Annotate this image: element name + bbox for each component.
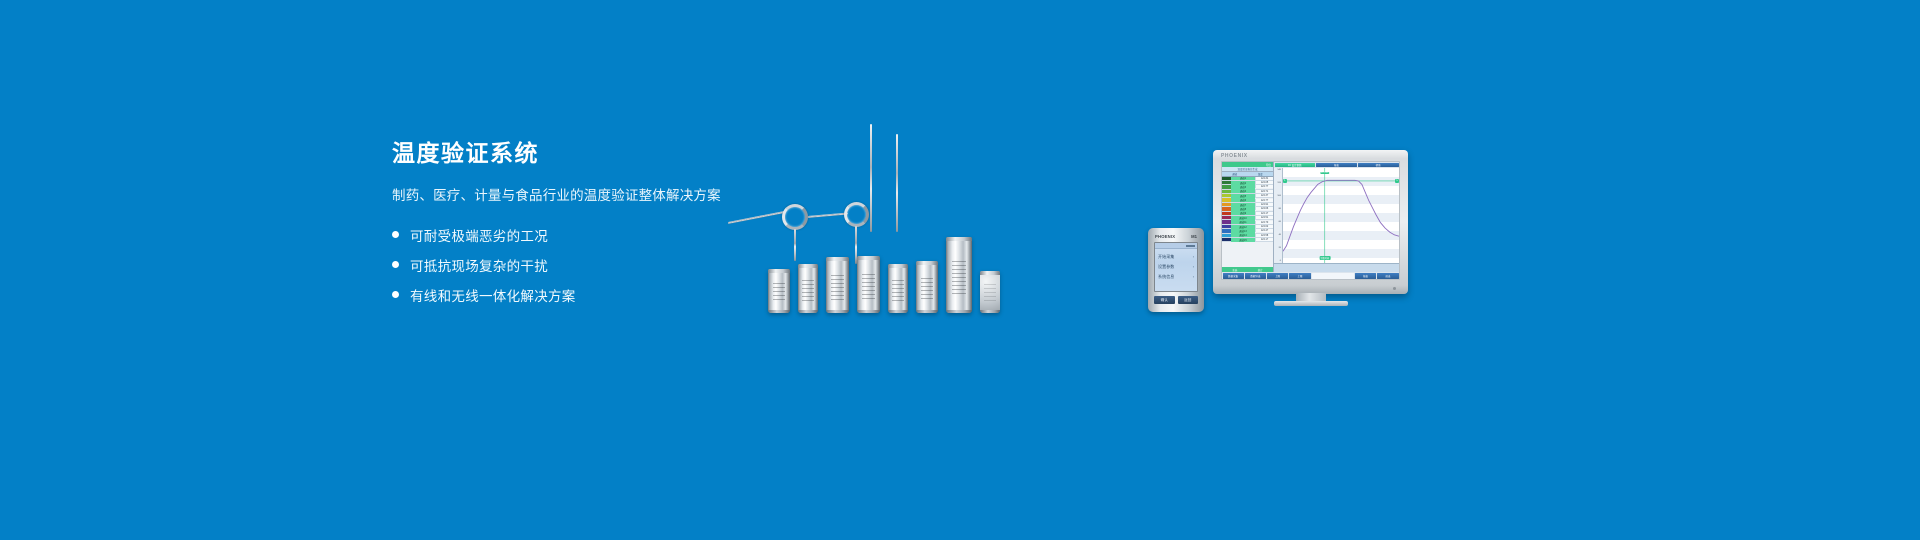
product-photo-group — [720, 120, 1220, 320]
data-logger-5 — [888, 264, 908, 313]
channel-value: 124.51 — [1255, 216, 1273, 219]
channel-name: 通道3 — [1231, 185, 1255, 189]
chart-line-series — [1283, 168, 1399, 264]
channel-color-swatch — [1222, 220, 1231, 223]
channel-color-swatch — [1222, 190, 1231, 193]
rigid-needle-probe-1 — [870, 124, 872, 232]
y-axis: 020406080100120140 — [1274, 168, 1283, 264]
handheld-menu-item[interactable]: 系统信息 › — [1155, 274, 1197, 279]
export-data-button[interactable]: 数据导出 — [1245, 273, 1266, 279]
tab-help[interactable]: 帮助 — [1358, 163, 1399, 168]
limit-handle-right[interactable]: L — [1395, 179, 1399, 183]
channel-panel: 导出 温度验证报告生成 通道 温度 通道1124.31通道2124.05通道31… — [1222, 162, 1274, 272]
bullet-label: 有线和无线一体化解决方案 — [410, 285, 576, 305]
data-logger-1 — [768, 269, 790, 313]
channel-value: 124.66 — [1255, 207, 1273, 210]
rigid-needle-probe-2 — [896, 134, 898, 232]
monitor-stand-base — [1274, 301, 1348, 306]
chart-panel: F0 设定参数 报表 帮助 020406080100120140 F0 4.51 — [1274, 162, 1399, 272]
channel-name: 通道11 — [1231, 220, 1255, 224]
channel-name: 通道15 — [1231, 238, 1255, 242]
data-logger-6 — [916, 261, 938, 313]
handheld-reader-device[interactable]: PHOENIX M1 开始采集 › 设置参数 › 系统信息 › 确认 返回 — [1148, 228, 1204, 312]
channel-color-swatch — [1222, 225, 1231, 228]
bullet-label: 可耐受极端恶劣的工况 — [410, 225, 548, 245]
validation-software-window: 导出 温度验证报告生成 通道 温度 通道1124.31通道2124.05通道31… — [1222, 162, 1399, 279]
tab-f0-settings[interactable]: F0 设定参数 — [1275, 163, 1316, 168]
data-logger-4 — [857, 256, 880, 313]
channel-color-swatch — [1222, 181, 1231, 184]
chevron-right-icon: › — [1193, 265, 1194, 269]
channel-name: 通道14 — [1231, 233, 1255, 237]
y-axis-tick-label: 80 — [1279, 208, 1281, 210]
channel-value: 124.17 — [1255, 238, 1273, 241]
channel-color-swatch — [1222, 238, 1231, 241]
channel-row-list[interactable]: 通道1124.31通道2124.05通道3124.77通道4124.71通道51… — [1222, 177, 1273, 268]
bullet-dot-icon — [392, 291, 399, 298]
channel-name: 通道6 — [1231, 198, 1255, 202]
handheld-menu-label: 设置参数 — [1158, 264, 1174, 270]
handheld-menu-item[interactable]: 设置参数 › — [1155, 264, 1197, 269]
channel-value: 124.91 — [1255, 203, 1273, 206]
monitor-display: PHOENIX 导出 温度验证报告生成 通道 温度 通道1124.31通道212… — [1213, 150, 1408, 294]
y-axis-tick-label: 40 — [1279, 234, 1281, 236]
column-header-channel: 通道 — [1232, 172, 1237, 176]
handheld-brand-label: PHOENIX — [1155, 234, 1175, 240]
channel-value: 124.37 — [1255, 194, 1273, 197]
channel-value: 124.70 — [1255, 221, 1273, 224]
channel-color-swatch — [1222, 212, 1231, 215]
channel-value: 124.31 — [1255, 177, 1273, 180]
upper-limit-button-1[interactable]: 上限 — [1267, 273, 1288, 279]
channel-name: 通道9 — [1231, 211, 1255, 215]
channel-value: 124.77 — [1255, 199, 1273, 202]
monitor-brand-label: PHOENIX — [1221, 153, 1248, 159]
chevron-right-icon: › — [1193, 255, 1194, 259]
channel-value: 124.47 — [1255, 229, 1273, 232]
statusbar-spacer — [1312, 273, 1355, 279]
channel-color-swatch — [1222, 185, 1231, 188]
handheld-confirm-button[interactable]: 确认 — [1154, 296, 1175, 304]
channel-value: 124.05 — [1255, 181, 1273, 184]
hero-banner: 温度验证系统 制药、医疗、计量与食品行业的温度验证整体解决方案 可耐受极端恶劣的… — [0, 0, 1920, 540]
chart-plot[interactable]: F0 4.51 平衡时间 L L — [1283, 168, 1399, 264]
data-logger-7 — [946, 237, 972, 313]
bullet-dot-icon — [392, 231, 399, 238]
statistics-button[interactable]: 统计 — [1248, 268, 1274, 272]
handheld-brand-bar: PHOENIX M1 — [1151, 231, 1201, 242]
channel-name: 通道8 — [1231, 207, 1255, 211]
bullet-dot-icon — [392, 261, 399, 268]
annotation-f0: F0 4.51 — [1320, 172, 1329, 174]
handheld-back-button[interactable]: 返回 — [1178, 296, 1199, 304]
select-all-button[interactable]: 全选 — [1222, 268, 1248, 272]
limit-handle-left[interactable]: L — [1283, 179, 1287, 183]
channel-color-swatch — [1222, 177, 1231, 180]
channel-name: 通道4 — [1231, 189, 1255, 193]
channel-name: 通道2 — [1231, 181, 1255, 185]
plot-area: 020406080100120140 F0 4.51 平衡时间 L L — [1274, 168, 1399, 264]
monitor-screen: 导出 温度验证报告生成 通道 温度 通道1124.31通道2124.05通道31… — [1221, 161, 1400, 280]
handheld-statusbar — [1155, 243, 1197, 249]
channel-name: 通道13 — [1231, 229, 1255, 233]
channel-value: 124.77 — [1255, 185, 1273, 188]
y-axis-tick-label: 0 — [1280, 260, 1281, 262]
tab-report[interactable]: 报表 — [1316, 163, 1357, 168]
channel-value: 124.17 — [1255, 212, 1273, 215]
handheld-screen: 开始采集 › 设置参数 › 系统信息 › — [1154, 242, 1198, 292]
channel-color-swatch — [1222, 216, 1231, 219]
report-button[interactable]: 报表 — [1355, 273, 1376, 279]
channel-color-swatch — [1222, 229, 1231, 232]
upper-limit-button-2[interactable]: 上限 — [1289, 273, 1310, 279]
y-axis-tick-label: 20 — [1279, 247, 1281, 249]
handheld-menu-label: 系统信息 — [1158, 274, 1174, 280]
chevron-right-icon: › — [1193, 275, 1194, 279]
channel-name: 通道7 — [1231, 203, 1255, 207]
bullet-label: 可抵抗现场复杂的干扰 — [410, 255, 548, 275]
channel-color-swatch — [1222, 198, 1231, 201]
handheld-keypad: 确认 返回 — [1154, 296, 1198, 304]
software-statusbar: 数据采集 数据导出 上限 上限 报表 退出 — [1222, 272, 1399, 279]
y-axis-tick-label: 120 — [1277, 182, 1281, 184]
x-axis: ||||||||||||||||||||||||||||||||||||||||… — [1274, 263, 1399, 272]
data-logger-2 — [798, 264, 818, 313]
power-led-icon — [1393, 287, 1396, 290]
channel-value: 124.71 — [1255, 190, 1273, 193]
channel-name: 通道10 — [1231, 216, 1255, 220]
handheld-menu-item[interactable]: 开始采集 › — [1155, 254, 1197, 259]
column-header-temp: 温度 — [1258, 172, 1263, 176]
channel-name: 通道12 — [1231, 225, 1255, 229]
y-axis-tick-label: 100 — [1277, 195, 1281, 197]
data-logger-3 — [826, 257, 849, 313]
table-row[interactable]: 通道15124.17 — [1222, 238, 1273, 242]
handheld-model-label: M1 — [1191, 234, 1197, 239]
channel-color-swatch — [1222, 203, 1231, 206]
data-logger-frosted — [980, 271, 1000, 313]
handheld-menu-label: 开始采集 — [1158, 254, 1174, 260]
y-axis-tick-label: 60 — [1279, 221, 1281, 223]
software-body: 导出 温度验证报告生成 通道 温度 通道1124.31通道2124.05通道31… — [1222, 162, 1399, 272]
channel-color-swatch — [1222, 194, 1231, 197]
channel-name: 通道5 — [1231, 194, 1255, 198]
y-axis-tick-label: 140 — [1277, 169, 1281, 171]
exit-button[interactable]: 退出 — [1377, 273, 1398, 279]
channel-value: 124.58 — [1255, 234, 1273, 237]
collect-data-button[interactable]: 数据采集 — [1223, 273, 1244, 279]
channel-color-swatch — [1222, 207, 1231, 210]
channel-value: 124.62 — [1255, 225, 1273, 228]
annotation-balance-time: 平衡时间 — [1319, 256, 1330, 260]
channel-color-swatch — [1222, 234, 1231, 237]
